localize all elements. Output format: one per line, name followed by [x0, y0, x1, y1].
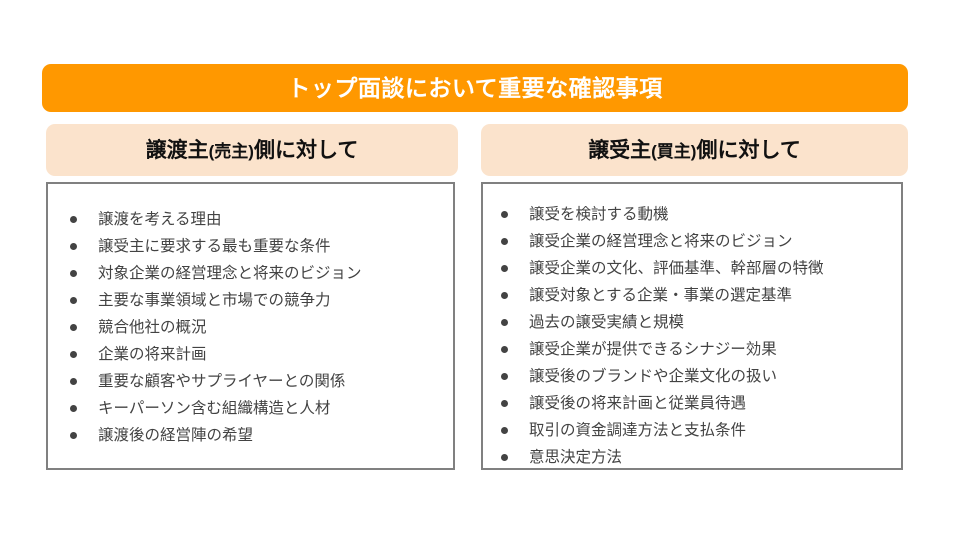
- bullet-dot-icon: [70, 432, 77, 439]
- seller-header-paren: (売主): [209, 142, 254, 161]
- list-item: キーパーソン含む組織構造と人材: [48, 395, 453, 422]
- bullet-dot-icon: [501, 265, 508, 272]
- seller-header-tail: 側に対して: [254, 139, 358, 162]
- list-item-label: 譲受後の将来計画と従業員待遇: [529, 390, 746, 417]
- list-item: 譲受企業の経営理念と将来のビジョン: [483, 228, 901, 255]
- column-header-buyer-label: 譲受主(買主)側に対して: [588, 140, 801, 161]
- list-item-label: 重要な顧客やサプライヤーとの関係: [98, 368, 345, 395]
- list-item: 取引の資金調達方法と支払条件: [483, 417, 901, 444]
- bullet-dot-icon: [70, 270, 77, 277]
- list-item: 重要な顧客やサプライヤーとの関係: [48, 368, 453, 395]
- list-item-label: 競合他社の概況: [98, 314, 207, 341]
- list-item: 譲受対象とする企業・事業の選定基準: [483, 282, 901, 309]
- bullet-dot-icon: [70, 297, 77, 304]
- bullet-dot-icon: [70, 243, 77, 250]
- list-item-label: 対象企業の経営理念と将来のビジョン: [98, 260, 362, 287]
- bullet-dot-icon: [70, 324, 77, 331]
- bullet-dot-icon: [501, 400, 508, 407]
- list-item: 競合他社の概況: [48, 314, 453, 341]
- list-item-label: 主要な事業領域と市場での競争力: [98, 287, 331, 314]
- list-item: 対象企業の経営理念と将来のビジョン: [48, 260, 453, 287]
- column-header-buyer: 譲受主(買主)側に対して: [481, 124, 908, 176]
- list-item: 譲受企業の文化、評価基準、幹部層の特徴: [483, 255, 901, 282]
- checklist-seller: 譲渡を考える理由譲受主に要求する最も重要な条件対象企業の経営理念と将来のビジョン…: [48, 184, 453, 449]
- list-item-label: 取引の資金調達方法と支払条件: [529, 417, 746, 444]
- bullet-dot-icon: [501, 427, 508, 434]
- column-header-seller-label: 譲渡主(売主)側に対して: [146, 140, 359, 161]
- list-item-label: 譲受企業の文化、評価基準、幹部層の特徴: [529, 255, 824, 282]
- list-item: 主要な事業領域と市場での競争力: [48, 287, 453, 314]
- list-item: 譲渡を考える理由: [48, 206, 453, 233]
- buyer-header-main: 譲受主: [588, 139, 651, 162]
- list-item-label: 譲受後のブランドや企業文化の扱い: [529, 363, 777, 390]
- seller-header-main: 譲渡主: [146, 139, 209, 162]
- checklist-box-seller: 譲渡を考える理由譲受主に要求する最も重要な条件対象企業の経営理念と将来のビジョン…: [46, 182, 455, 470]
- list-item-label: 譲受対象とする企業・事業の選定基準: [529, 282, 792, 309]
- list-item: 意思決定方法: [483, 444, 901, 471]
- list-item: 過去の譲受実績と規模: [483, 309, 901, 336]
- page-title: トップ面談において重要な確認事項: [287, 77, 662, 100]
- bullet-dot-icon: [501, 211, 508, 218]
- list-item: 譲受を検討する動機: [483, 201, 901, 228]
- list-item-label: 意思決定方法: [529, 444, 622, 471]
- title-banner: トップ面談において重要な確認事項: [42, 64, 908, 112]
- list-item: 譲受主に要求する最も重要な条件: [48, 233, 453, 260]
- list-item-label: 企業の将来計画: [98, 341, 207, 368]
- list-item-label: 譲受主に要求する最も重要な条件: [98, 233, 331, 260]
- list-item-label: 譲渡後の経営陣の希望: [98, 422, 253, 449]
- list-item-label: 過去の譲受実績と規模: [529, 309, 684, 336]
- bullet-dot-icon: [70, 351, 77, 358]
- column-header-seller: 譲渡主(売主)側に対して: [46, 124, 458, 176]
- bullet-dot-icon: [501, 319, 508, 326]
- list-item-label: 譲受を検討する動機: [529, 201, 669, 228]
- bullet-dot-icon: [501, 292, 508, 299]
- bullet-dot-icon: [501, 454, 508, 461]
- list-item-label: 譲渡を考える理由: [98, 206, 222, 233]
- slide-canvas: トップ面談において重要な確認事項 譲渡主(売主)側に対して 譲受主(買主)側に対…: [0, 0, 960, 540]
- list-item: 譲渡後の経営陣の希望: [48, 422, 453, 449]
- bullet-dot-icon: [70, 405, 77, 412]
- buyer-header-tail: 側に対して: [696, 139, 800, 162]
- list-item-label: 譲受企業の経営理念と将来のビジョン: [529, 228, 793, 255]
- checklist-buyer: 譲受を検討する動機譲受企業の経営理念と将来のビジョン譲受企業の文化、評価基準、幹…: [483, 184, 901, 471]
- buyer-header-paren: (買主): [651, 142, 696, 161]
- checklist-box-buyer: 譲受を検討する動機譲受企業の経営理念と将来のビジョン譲受企業の文化、評価基準、幹…: [481, 182, 903, 470]
- bullet-dot-icon: [501, 346, 508, 353]
- list-item-label: キーパーソン含む組織構造と人材: [98, 395, 330, 422]
- bullet-dot-icon: [501, 373, 508, 380]
- list-item-label: 譲受企業が提供できるシナジー効果: [529, 336, 777, 363]
- bullet-dot-icon: [501, 238, 508, 245]
- list-item: 企業の将来計画: [48, 341, 453, 368]
- list-item: 譲受後の将来計画と従業員待遇: [483, 390, 901, 417]
- list-item: 譲受企業が提供できるシナジー効果: [483, 336, 901, 363]
- list-item: 譲受後のブランドや企業文化の扱い: [483, 363, 901, 390]
- bullet-dot-icon: [70, 378, 77, 385]
- bullet-dot-icon: [70, 216, 77, 223]
